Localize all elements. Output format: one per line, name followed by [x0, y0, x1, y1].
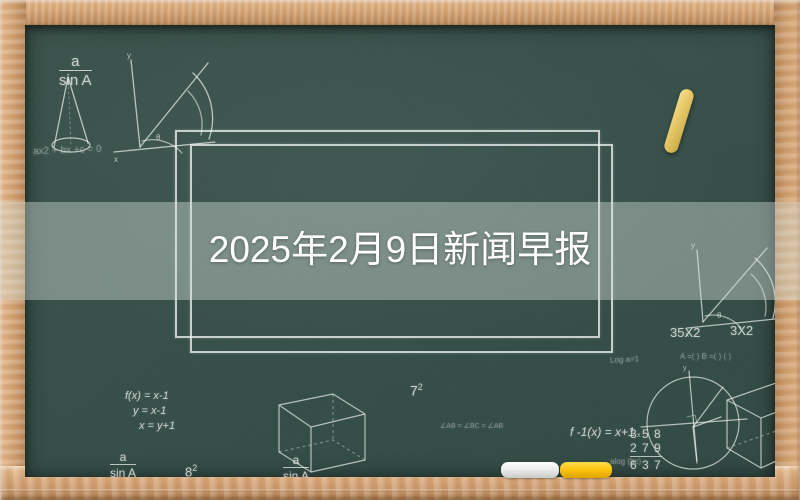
law-of-sines-bottom-left: a sin A [110, 450, 136, 477]
log-bc-note-text: alog (bc) [610, 457, 641, 466]
fraction-denominator: sin A [283, 469, 309, 477]
eight-exponent: 2 [192, 463, 197, 473]
quadratic-equation-text: ax2 + bx +c = 0 [33, 144, 102, 157]
fraction-numerator: a [120, 450, 127, 464]
inverse-function-text: f -1(x) = x+1 [570, 425, 635, 439]
three-x2-text: 3X2 [730, 323, 753, 338]
svg-text:θ: θ [717, 311, 722, 320]
svg-text:x: x [685, 330, 689, 339]
fraction-denominator: sin A [110, 466, 136, 477]
addition-column-block: 3 5 8 2 7 9 6 3 7 [630, 427, 662, 472]
eight-squared-text: 82 [185, 463, 197, 477]
svg-text:x: x [637, 432, 641, 439]
thirtyfive-x2-text: 35X2 [670, 325, 700, 340]
white-chalk-on-ledge-icon [501, 462, 559, 478]
screenshot-root: y x θ a sin A ax2 + bx +c = 0 [0, 0, 800, 500]
angle-congruence-note: ∠AB = ∠BC = ∠AB [440, 422, 503, 430]
function-x-text: x = y+1 [125, 419, 175, 434]
log-note-text: Log a=1 [610, 354, 640, 365]
fraction-denominator: sin A [59, 72, 92, 89]
svg-text:x: x [114, 155, 118, 164]
chalk-art-cube-center [255, 380, 385, 475]
matrix-note-text: A =( ) B =( ) ( ) [680, 352, 731, 361]
sum-row-1-text: 3 5 8 [630, 427, 662, 441]
svg-text:y: y [127, 51, 131, 60]
eight-base: 8 [185, 464, 192, 477]
sum-row-2-text: 2 7 9 [630, 441, 662, 455]
function-definition-block: f(x) = x-1 y = x-1 x = y+1 [125, 389, 175, 434]
chalk-art-circle-radii: y x [635, 365, 765, 477]
function-y-text: y = x-1 [125, 404, 175, 419]
yellow-chalk-on-ledge-icon [560, 462, 612, 478]
seven-exponent: 2 [418, 382, 423, 392]
function-fx-text: f(x) = x-1 [125, 389, 175, 404]
svg-text:θ: θ [156, 133, 161, 142]
sum-divider [630, 456, 662, 457]
svg-text:y: y [683, 365, 687, 372]
sum-row-3-text: 6 3 7 [630, 458, 662, 472]
fraction-numerator: a [71, 53, 79, 70]
seven-base: 7 [410, 383, 418, 399]
law-of-sines-top-left: a sin A [59, 53, 92, 89]
page-title: 2025年2月9日新闻早报 [0, 228, 800, 272]
fraction-numerator: a [293, 453, 300, 467]
chalk-art-cube-right [705, 370, 775, 477]
law-of-sines-bottom-center: a sin A [283, 453, 309, 477]
seven-squared-text: 72 [410, 382, 423, 399]
